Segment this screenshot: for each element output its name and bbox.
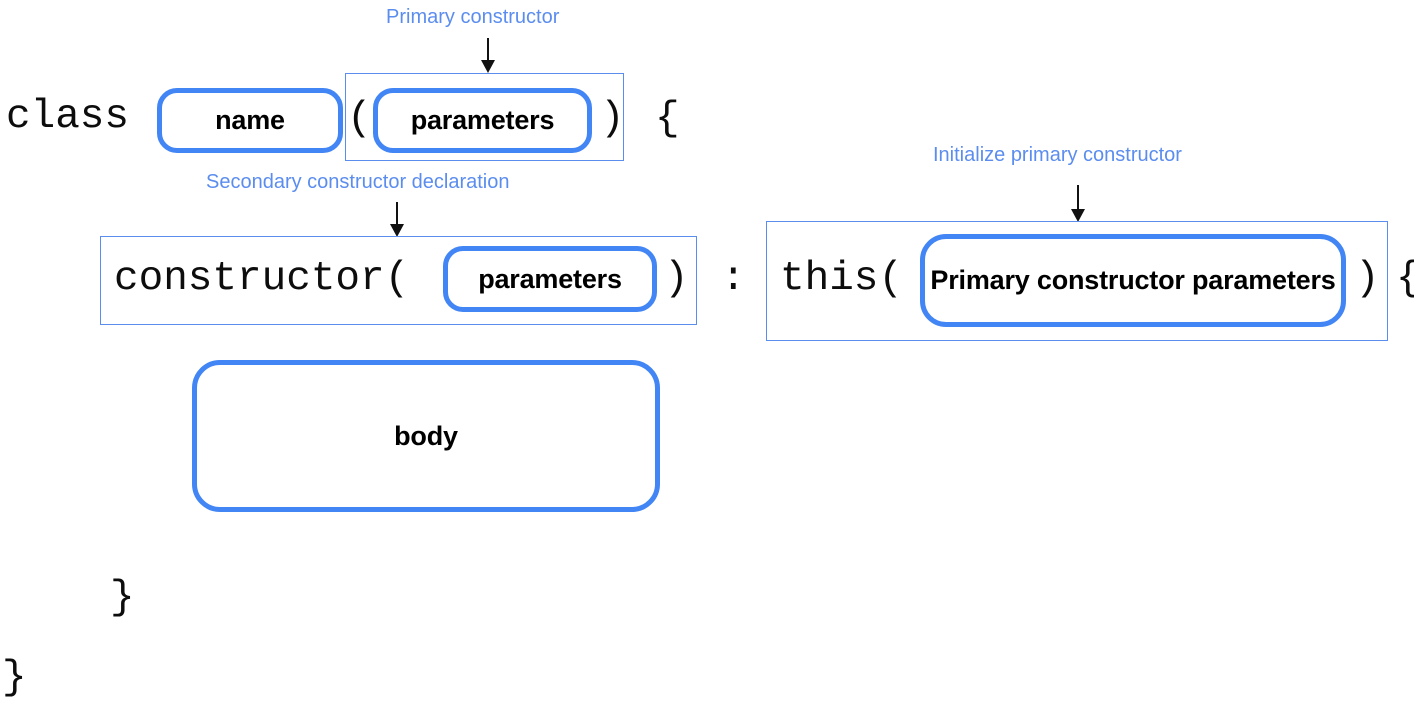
close-paren-primary: ) [600,99,625,140]
close-paren-secondary: ) [664,259,689,300]
open-brace-class: { [655,99,680,140]
slot-secondary-parameters[interactable]: parameters [443,246,657,312]
caption-secondary-constructor-declaration: Secondary constructor declaration [206,172,510,192]
open-paren-primary: ( [347,99,372,140]
colon-delegation: : [721,259,746,300]
class-keyword: class [6,97,129,138]
this-keyword: this( [780,259,903,300]
slot-primary-constructor-parameters[interactable]: Primary constructor parameters [920,234,1346,327]
caption-initialize-primary-constructor: Initialize primary constructor [933,145,1182,165]
caption-primary-constructor: Primary constructor [386,7,559,27]
arrow-secondary-constructor-icon [390,202,404,237]
close-brace-secondary: } [110,578,135,619]
arrow-initialize-primary-constructor-icon [1071,185,1085,222]
slot-name[interactable]: name [157,88,343,153]
constructor-keyword: constructor( [114,259,409,300]
slot-body[interactable]: body [192,360,660,512]
arrow-primary-constructor-icon [481,38,495,73]
close-brace-class: } [2,658,27,699]
slot-primary-parameters[interactable]: parameters [373,88,592,153]
open-brace-secondary: { [1396,259,1414,300]
close-paren-delegation: ) [1355,259,1380,300]
